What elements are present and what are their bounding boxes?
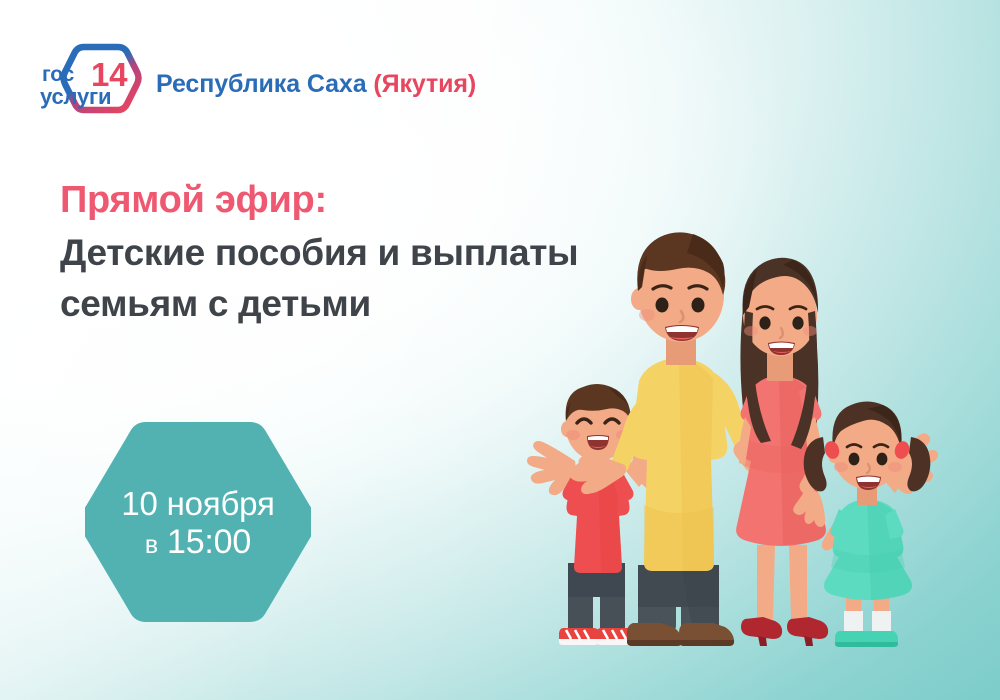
badge-time-row: в 15:00 — [145, 523, 251, 561]
region-name-blue: Республика Саха — [156, 70, 373, 98]
poster-canvas: гос услуги 14 Республика Саха (Якутия) П… — [0, 0, 1000, 700]
badge-date: 10 ноября — [121, 486, 274, 523]
gosuslugi-logo-icon: гос услуги 14 — [46, 42, 142, 126]
badge-time-prefix: в — [145, 531, 158, 559]
region-title: Республика Саха (Якутия) — [156, 70, 476, 99]
logo-text-gos: гос — [42, 64, 74, 85]
date-badge-text: 10 ноября в 15:00 — [85, 403, 311, 641]
region-name-red: (Якутия) — [373, 70, 476, 98]
family-illustration — [505, 215, 955, 665]
brand-header: гос услуги 14 Республика Саха (Якутия) — [46, 42, 476, 126]
logo-text-number: 14 — [91, 58, 127, 91]
badge-time: 15:00 — [167, 523, 251, 561]
date-time-badge: 10 ноября в 15:00 — [85, 403, 311, 641]
